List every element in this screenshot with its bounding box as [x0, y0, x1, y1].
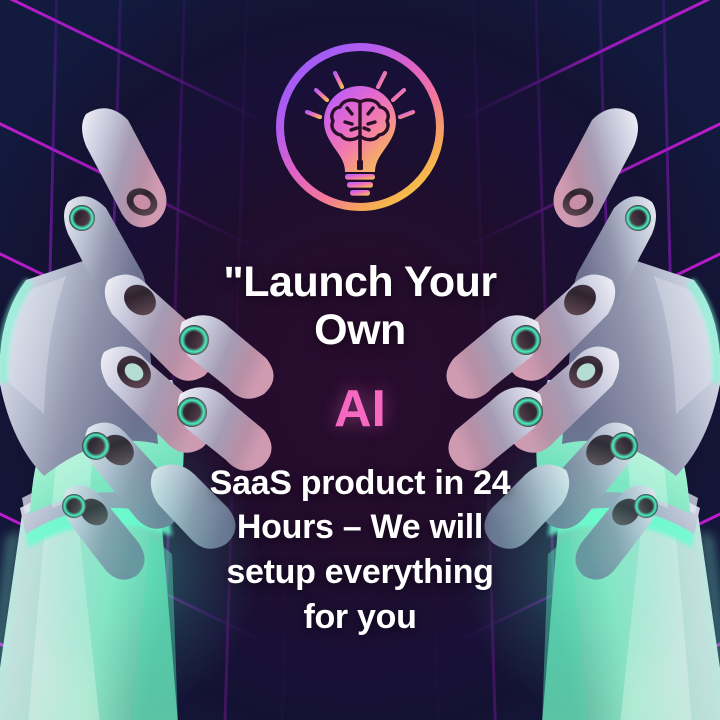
- subline-line-2: Hours – We will: [237, 508, 483, 546]
- ai-lightbulb-brain-logo: [269, 36, 451, 218]
- logo-filament-tip: [357, 160, 363, 170]
- subline-line-3: setup everything: [226, 553, 493, 591]
- subline: SaaS product in 24 Hours – We will setup…: [150, 461, 570, 641]
- logo-svg: [269, 36, 451, 218]
- logo-bulb-base: [345, 174, 375, 196]
- ai-saas-promo-poster: "Launch Your Own AI SaaS product in 24 H…: [0, 0, 720, 720]
- headline: "Launch Your Own AI: [150, 258, 570, 439]
- headline-line-1: "Launch Your: [223, 258, 496, 306]
- subline-line-1: SaaS product in 24: [210, 464, 511, 502]
- headline-accent-ai: AI: [150, 380, 570, 438]
- headline-line-2: Own: [314, 306, 406, 354]
- subline-line-4: for you: [303, 598, 416, 636]
- poster-copy-block: "Launch Your Own AI SaaS product in 24 H…: [0, 258, 720, 640]
